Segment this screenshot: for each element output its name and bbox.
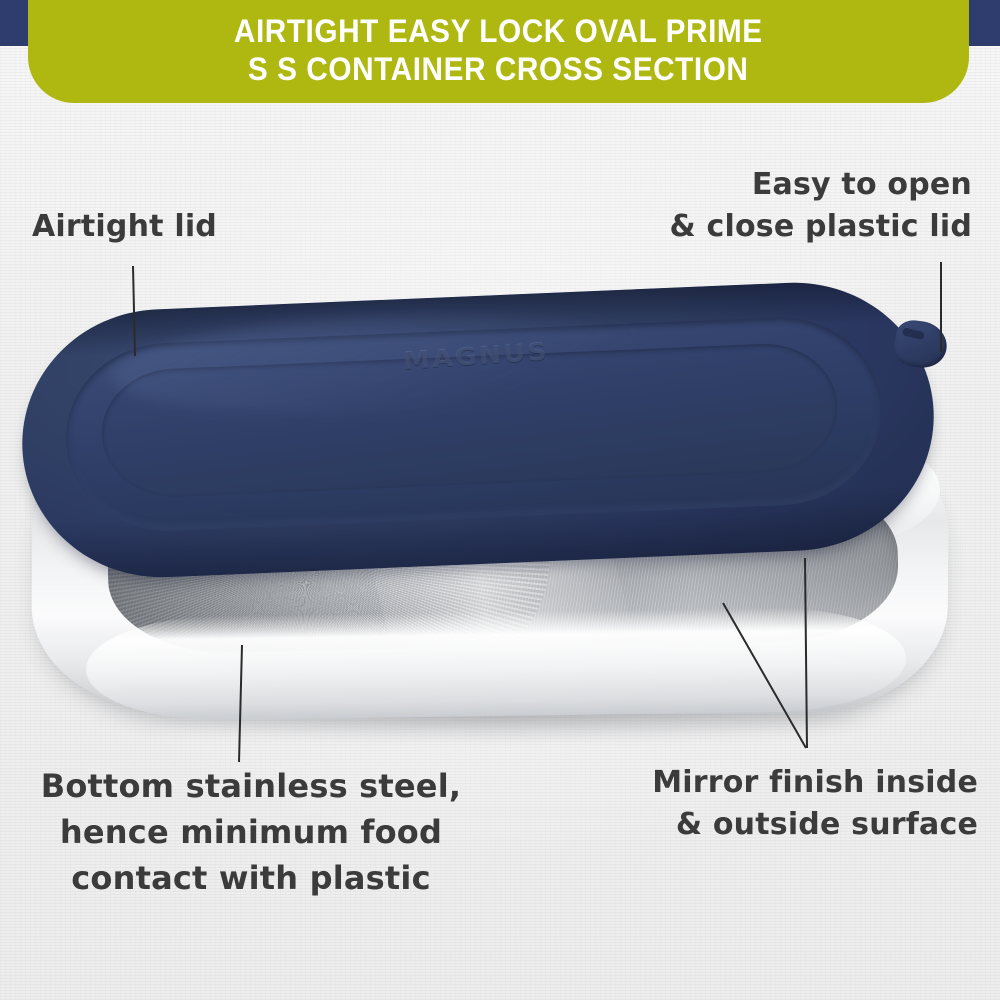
annotation-bottom-stainless-steel: Bottom stainless steel, hence minimum fo… (36, 763, 466, 901)
infographic-page: AIRTIGHT EASY LOCK OVAL PRIME S S CONTAI… (0, 0, 1000, 1000)
header-banner: AIRTIGHT EASY LOCK OVAL PRIME S S CONTAI… (28, 0, 969, 103)
annotation-airtight-lid: Airtight lid (32, 206, 217, 248)
corner-accent-right (967, 0, 1000, 46)
annotation-mirror-finish: Mirror finish inside & outside surface (652, 762, 978, 846)
banner-title-line-2: S S CONTAINER CROSS SECTION (248, 50, 749, 88)
corner-accent-left (0, 0, 30, 46)
annotation-easy-to-open: Easy to open & close plastic lid (670, 164, 972, 248)
banner-title-line-1: AIRTIGHT EASY LOCK OVAL PRIME (234, 12, 763, 50)
